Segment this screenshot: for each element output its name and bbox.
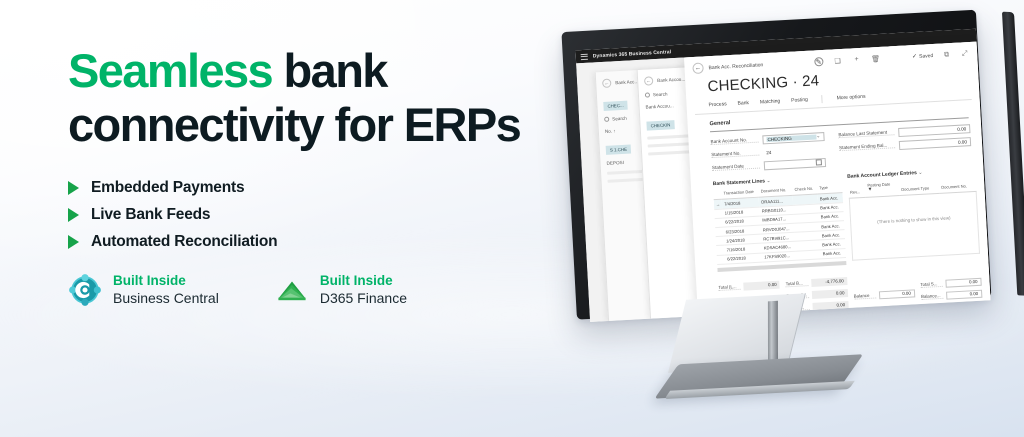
calendar-icon[interactable] bbox=[816, 160, 822, 166]
general-right-column: Balance Last Statement 0.00 Statement En… bbox=[838, 124, 972, 166]
app-title: Dynamics 365 Business Central bbox=[593, 49, 672, 59]
field-label: Statement Date bbox=[712, 163, 760, 172]
search-icon[interactable] bbox=[645, 92, 650, 97]
search-icon[interactable] bbox=[604, 117, 609, 122]
field-value bbox=[768, 163, 816, 166]
search-input[interactable]: Search bbox=[612, 116, 627, 122]
tab-matching[interactable]: Matching bbox=[760, 98, 781, 105]
general-left-column: Bank Account No. CHECKING ⌄ Statement No… bbox=[710, 132, 826, 173]
total-value: 0.00 bbox=[743, 280, 779, 290]
card-header-right: ✓ Saved ⧉ ⤢ bbox=[912, 49, 970, 61]
field-label: Statement No. bbox=[711, 150, 759, 159]
built-inside-badges: Built Inside Business Central Built Insi… bbox=[68, 273, 568, 307]
total-item: Total S... 0.00 bbox=[920, 277, 982, 288]
field-value: 24 bbox=[766, 147, 822, 155]
statement-lines-table: Transaction Date Document No. Check No. … bbox=[713, 184, 845, 265]
total-label: Total B... bbox=[785, 280, 808, 287]
total-value: 0.00 bbox=[945, 277, 981, 287]
badge-business-central: Built Inside Business Central bbox=[68, 273, 219, 307]
total-value: 0.00 bbox=[946, 289, 982, 299]
total-label: Balance... bbox=[921, 293, 944, 300]
cell-transaction-date: 6/22/2018 bbox=[725, 253, 763, 264]
cell-type: Bank Acc. bbox=[820, 248, 845, 259]
monitor-bezel: Dynamics 365 Business Central ← Bank Acc… bbox=[561, 10, 991, 320]
column-header-posting-date[interactable]: Posting Date ▼ bbox=[865, 181, 899, 198]
saved-label: Saved bbox=[919, 53, 933, 60]
play-triangle-icon bbox=[68, 181, 79, 195]
bank-statement-lines-panel: Bank Statement Lines ⌄ Transaction Date … bbox=[713, 174, 847, 278]
total-item: Total (L... 0.00 bbox=[718, 280, 780, 291]
ledger-entries-empty-area: (There is nothing to show in this view) bbox=[848, 192, 980, 261]
panel-heading-label: Bank Statement Lines bbox=[713, 178, 765, 187]
statement-date-input[interactable] bbox=[764, 158, 826, 170]
app-body: ← Bank Acc... CHEC... Search No. ↑ S 1.C… bbox=[576, 42, 990, 322]
search-input[interactable]: Search bbox=[653, 91, 668, 97]
open-in-new-window-icon[interactable]: ⧉ bbox=[942, 50, 951, 59]
field-value: 0.00 bbox=[902, 126, 966, 134]
monitor-mockup: Dynamics 365 Business Central ← Bank Acc… bbox=[555, 0, 1024, 410]
panel-heading-label: Bank Account Ledger Entries bbox=[847, 170, 917, 180]
total-value: 0.00 bbox=[812, 301, 848, 311]
bank-account-ledger-entries-panel: Bank Account Ledger Entries ⌄ Rev... Pos… bbox=[847, 167, 981, 271]
tab-process[interactable]: Process bbox=[708, 101, 726, 108]
filter-funnel-icon[interactable]: ▼ bbox=[867, 187, 872, 193]
badge-d365-finance: Built Inside D365 Finance bbox=[275, 273, 407, 307]
statement-no-value: 24 bbox=[763, 145, 825, 157]
reconciliation-panels: Bank Statement Lines ⌄ Transaction Date … bbox=[699, 167, 981, 279]
total-item: Balance 0.00 bbox=[853, 289, 915, 300]
check-icon: ✓ bbox=[912, 53, 917, 60]
d365-finance-logo-icon bbox=[275, 273, 309, 307]
bank-account-no-input[interactable]: CHECKING ⌄ bbox=[762, 132, 824, 144]
back-arrow-icon[interactable]: ← bbox=[602, 78, 611, 87]
badge-kicker: Built Inside bbox=[113, 273, 219, 289]
cell-document-no: 17KFS9020... bbox=[762, 251, 796, 262]
badge-product-name: Business Central bbox=[113, 290, 219, 307]
total-value: 0.00 bbox=[879, 289, 915, 299]
column-header-document-no[interactable]: Document No. bbox=[939, 177, 977, 194]
list-item: Automated Reconciliation bbox=[68, 233, 568, 251]
chevron-down-icon[interactable]: ⌄ bbox=[918, 170, 923, 176]
totals-right: Total S... 0.00 Balance... 0.00 bbox=[920, 269, 983, 304]
column-header-rev[interactable]: Rev... bbox=[848, 183, 866, 199]
hamburger-icon[interactable] bbox=[581, 53, 588, 59]
total-label: Balance bbox=[853, 292, 876, 299]
breadcrumb: Bank Acc. Reconciliation bbox=[708, 62, 763, 71]
field-label: Statement Ending Bal... bbox=[839, 143, 895, 152]
play-triangle-icon bbox=[68, 208, 79, 222]
totals-balance: Balance 0.00 bbox=[853, 273, 916, 308]
tab-bank[interactable]: Bank bbox=[737, 100, 749, 107]
feature-bullet-list: Embedded Payments Live Bank Feeds Automa… bbox=[68, 179, 568, 251]
card-toolbar: ✎ ❏ + 🗑 bbox=[814, 54, 880, 67]
back-arrow-icon[interactable]: ← bbox=[644, 76, 653, 85]
status-badge: ✓ Saved bbox=[912, 52, 934, 60]
fullscreen-expand-icon[interactable]: ⤢ bbox=[960, 49, 969, 58]
total-value: -4,776.00 bbox=[811, 277, 847, 287]
field-label: Balance Last Statement bbox=[838, 130, 894, 139]
total-item: Balance... 0.00 bbox=[921, 289, 983, 300]
bullet-label: Live Bank Feeds bbox=[91, 206, 210, 224]
statement-ending-balance-input[interactable]: 0.00 bbox=[899, 137, 971, 150]
delete-trash-icon[interactable]: 🗑 bbox=[871, 54, 880, 63]
field-statement-ending-balance: Statement Ending Bal... 0.00 bbox=[839, 137, 971, 153]
divider bbox=[822, 95, 823, 103]
field-value: 0.00 bbox=[903, 139, 967, 147]
monitor-stand-neck bbox=[768, 301, 778, 364]
field-label: Bank Account No. bbox=[710, 137, 758, 146]
cell-check-no bbox=[796, 249, 821, 260]
filter-chip[interactable]: CHEC... bbox=[603, 101, 628, 111]
list-item: Live Bank Feeds bbox=[68, 206, 568, 224]
field-statement-date: Statement Date bbox=[712, 158, 826, 173]
copy-icon[interactable]: ❏ bbox=[833, 56, 842, 65]
list-item: Embedded Payments bbox=[68, 179, 568, 197]
breadcrumb: Bank Acc... bbox=[615, 79, 638, 85]
balance-last-statement-input[interactable]: 0.00 bbox=[898, 124, 970, 137]
new-plus-icon[interactable]: + bbox=[852, 55, 861, 64]
edit-pencil-icon[interactable]: ✎ bbox=[814, 57, 823, 66]
breadcrumb: Bank Accou... bbox=[657, 76, 685, 83]
bullet-label: Automated Reconciliation bbox=[91, 233, 277, 251]
chevron-down-icon[interactable]: ⌄ bbox=[766, 178, 771, 184]
row-chip[interactable]: S 1.CHE bbox=[606, 145, 632, 155]
more-options-button[interactable]: More options bbox=[836, 94, 865, 102]
row-chip[interactable]: CHECKIN bbox=[646, 120, 674, 130]
monitor-screen: Dynamics 365 Business Central ← Bank Acc… bbox=[575, 29, 990, 322]
bullet-label: Embedded Payments bbox=[91, 179, 244, 197]
hero-copy: Seamless bank connectivity for ERPs Embe… bbox=[68, 44, 568, 307]
total-value: 0.00 bbox=[811, 289, 847, 299]
total-item: Total B... -4,776.00 bbox=[785, 277, 847, 288]
business-central-logo-icon bbox=[68, 273, 102, 307]
field-value: CHECKING bbox=[766, 134, 816, 142]
empty-state-text: (There is nothing to show in this view) bbox=[849, 192, 978, 248]
column-header-document-type[interactable]: Document Type bbox=[899, 179, 940, 196]
total-label: Total (L... bbox=[718, 283, 741, 290]
play-triangle-icon bbox=[68, 235, 79, 249]
headline-accent-word: Seamless bbox=[68, 44, 272, 97]
total-label: Total S... bbox=[920, 281, 943, 288]
bank-reconciliation-card: ← Bank Acc. Reconciliation ✎ ❏ + 🗑 ✓ Sav… bbox=[684, 42, 991, 316]
chevron-down-icon[interactable]: ⌄ bbox=[816, 134, 821, 140]
badge-kicker: Built Inside bbox=[320, 273, 407, 289]
badge-product-name: D365 Finance bbox=[320, 290, 407, 307]
page-title: Seamless bank connectivity for ERPs bbox=[68, 44, 568, 151]
back-arrow-icon[interactable]: ← bbox=[692, 62, 704, 74]
tab-posting[interactable]: Posting bbox=[791, 97, 808, 104]
general-fields: Bank Account No. CHECKING ⌄ Statement No… bbox=[696, 124, 974, 174]
